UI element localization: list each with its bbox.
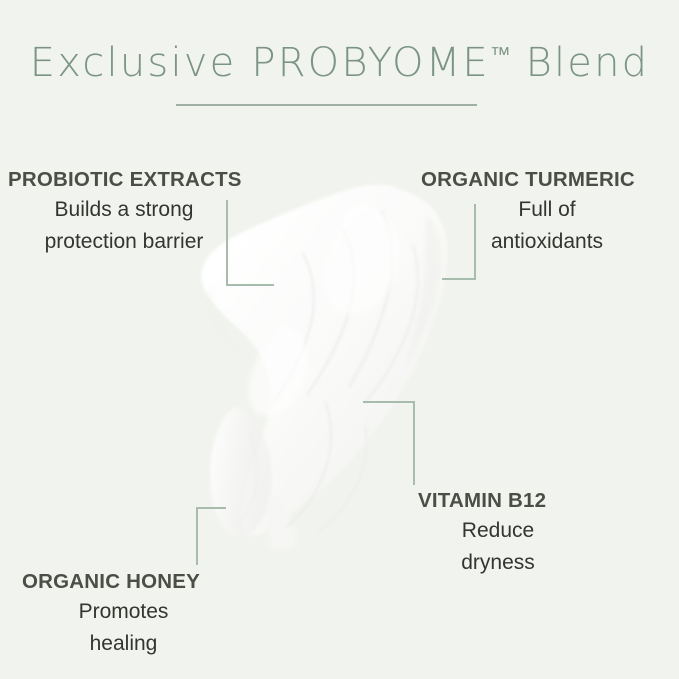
page-title-suffix: Blend bbox=[511, 40, 650, 86]
callout-probiotic-body: Builds a strong protection barrier bbox=[8, 194, 240, 259]
callout-honey-body-line1: Promotes bbox=[22, 596, 225, 629]
callout-turmeric-body-line1: Full of bbox=[421, 194, 673, 227]
callout-probiotic-heading: PROBIOTIC EXTRACTS bbox=[8, 168, 258, 192]
callout-probiotic-extracts: PROBIOTIC EXTRACTS Builds a strong prote… bbox=[8, 168, 258, 259]
callout-organic-turmeric: ORGANIC TURMERIC Full of antioxidants bbox=[421, 168, 673, 259]
callout-honey-body-line2: healing bbox=[22, 628, 225, 661]
callout-vitamin-body: Reduce dryness bbox=[418, 515, 578, 580]
connector-vitamin-vertical bbox=[413, 401, 415, 485]
callout-vitamin-heading: VITAMIN B12 bbox=[418, 489, 658, 513]
callout-organic-honey: ORGANIC HONEY Promotes healing bbox=[22, 570, 252, 661]
callout-vitamin-body-line2: dryness bbox=[418, 547, 578, 580]
callout-vitamin-body-line1: Reduce bbox=[418, 515, 578, 548]
page-title: Exclusive PROBYOME™ Blend bbox=[0, 40, 679, 86]
connector-turmeric-horizontal bbox=[442, 278, 476, 280]
callout-vitamin-b12: VITAMIN B12 Reduce dryness bbox=[418, 489, 658, 580]
connector-vitamin-horizontal bbox=[363, 401, 415, 403]
callout-honey-body: Promotes healing bbox=[22, 596, 225, 661]
callout-turmeric-body-line2: antioxidants bbox=[421, 226, 673, 259]
page-title-main: Exclusive PROBYOME bbox=[30, 40, 490, 86]
trademark-symbol: ™ bbox=[490, 43, 511, 67]
infographic-canvas: Exclusive PROBYOME™ Blend bbox=[0, 0, 679, 679]
title-divider bbox=[176, 104, 477, 106]
connector-honey-horizontal bbox=[196, 507, 226, 509]
connector-honey-vertical bbox=[196, 507, 198, 565]
callout-probiotic-body-line2: protection barrier bbox=[8, 226, 240, 259]
callout-probiotic-body-line1: Builds a strong bbox=[8, 194, 240, 227]
callout-turmeric-heading: ORGANIC TURMERIC bbox=[421, 168, 673, 192]
callout-turmeric-body: Full of antioxidants bbox=[421, 194, 673, 259]
callout-honey-heading: ORGANIC HONEY bbox=[22, 570, 252, 594]
connector-probiotic-horizontal bbox=[226, 284, 274, 286]
